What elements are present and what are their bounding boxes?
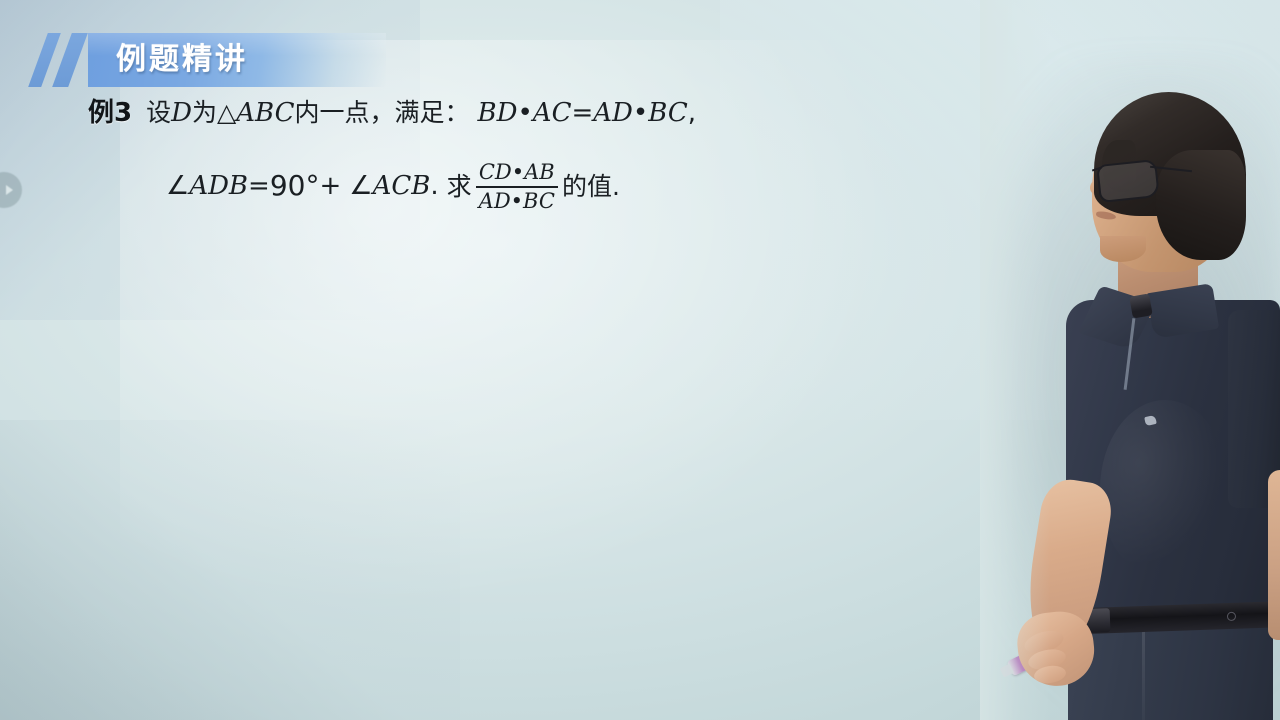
presenter-hair-side (1156, 150, 1246, 260)
degrees-90: 90° (270, 172, 320, 200)
angle-symbol-1: ∠ (166, 173, 189, 199)
plus-sign: + (319, 173, 341, 199)
video-frame: 例题精讲 例3 设 D 为 △ ABC 内一点，满足： BD • AC = AD… (0, 0, 1280, 720)
microphone-clip-icon (1129, 293, 1153, 318)
problem-statement: 例3 设 D 为 △ ABC 内一点，满足： BD • AC = AD • BC… (88, 100, 878, 218)
presenter-shirt-fold (1100, 400, 1230, 580)
line1-var-d: D (171, 100, 192, 126)
equals-sign-1: = (571, 100, 593, 126)
equals-sign-2: = (248, 173, 270, 199)
eq-rhs-ad: AD (593, 100, 633, 126)
line1-text-c: 内一点，满足： (294, 100, 469, 125)
line1-text-b: 为 (192, 100, 217, 125)
line1-triangle-abc: ABC (236, 100, 294, 126)
example-tag: 例3 (88, 100, 132, 126)
triangle-symbol: △ (217, 100, 236, 125)
problem-line-1: 例3 设 D 为 △ ABC 内一点，满足： BD • AC = AD • BC… (88, 100, 878, 148)
banner-title: 例题精讲 (116, 36, 248, 84)
angle-acb: ACB (373, 173, 431, 199)
eq-lhs-bd: BD (478, 100, 518, 126)
angle-adb: ADB (189, 173, 248, 199)
fraction-bar (476, 186, 558, 188)
eq-lhs-ac: AC (533, 100, 572, 126)
eq-rhs-bc: BC (648, 100, 687, 126)
ask-text: 求 (447, 174, 472, 199)
background-tint-bottom-left (0, 420, 460, 720)
chevron-right-icon (6, 185, 13, 195)
fraction-numerator: CD•AB (476, 160, 558, 185)
line2-period: . (430, 173, 438, 199)
presenter-far-arm (1268, 470, 1280, 640)
presenter-figure (980, 0, 1280, 720)
dot-operator-1: • (517, 100, 532, 126)
line1-text-a: 设 (146, 100, 171, 125)
angle-symbol-2: ∠ (349, 173, 372, 199)
fraction-denominator: AD•BC (476, 189, 558, 214)
dot-operator-2: • (633, 100, 648, 126)
value-text: 的值. (562, 174, 620, 199)
problem-line-2: ∠ ADB = 90° + ∠ ACB . 求 CD•AB AD•BC 的值. (88, 154, 878, 218)
line1-comma: , (688, 100, 696, 126)
fraction: CD•AB AD•BC (476, 160, 558, 213)
